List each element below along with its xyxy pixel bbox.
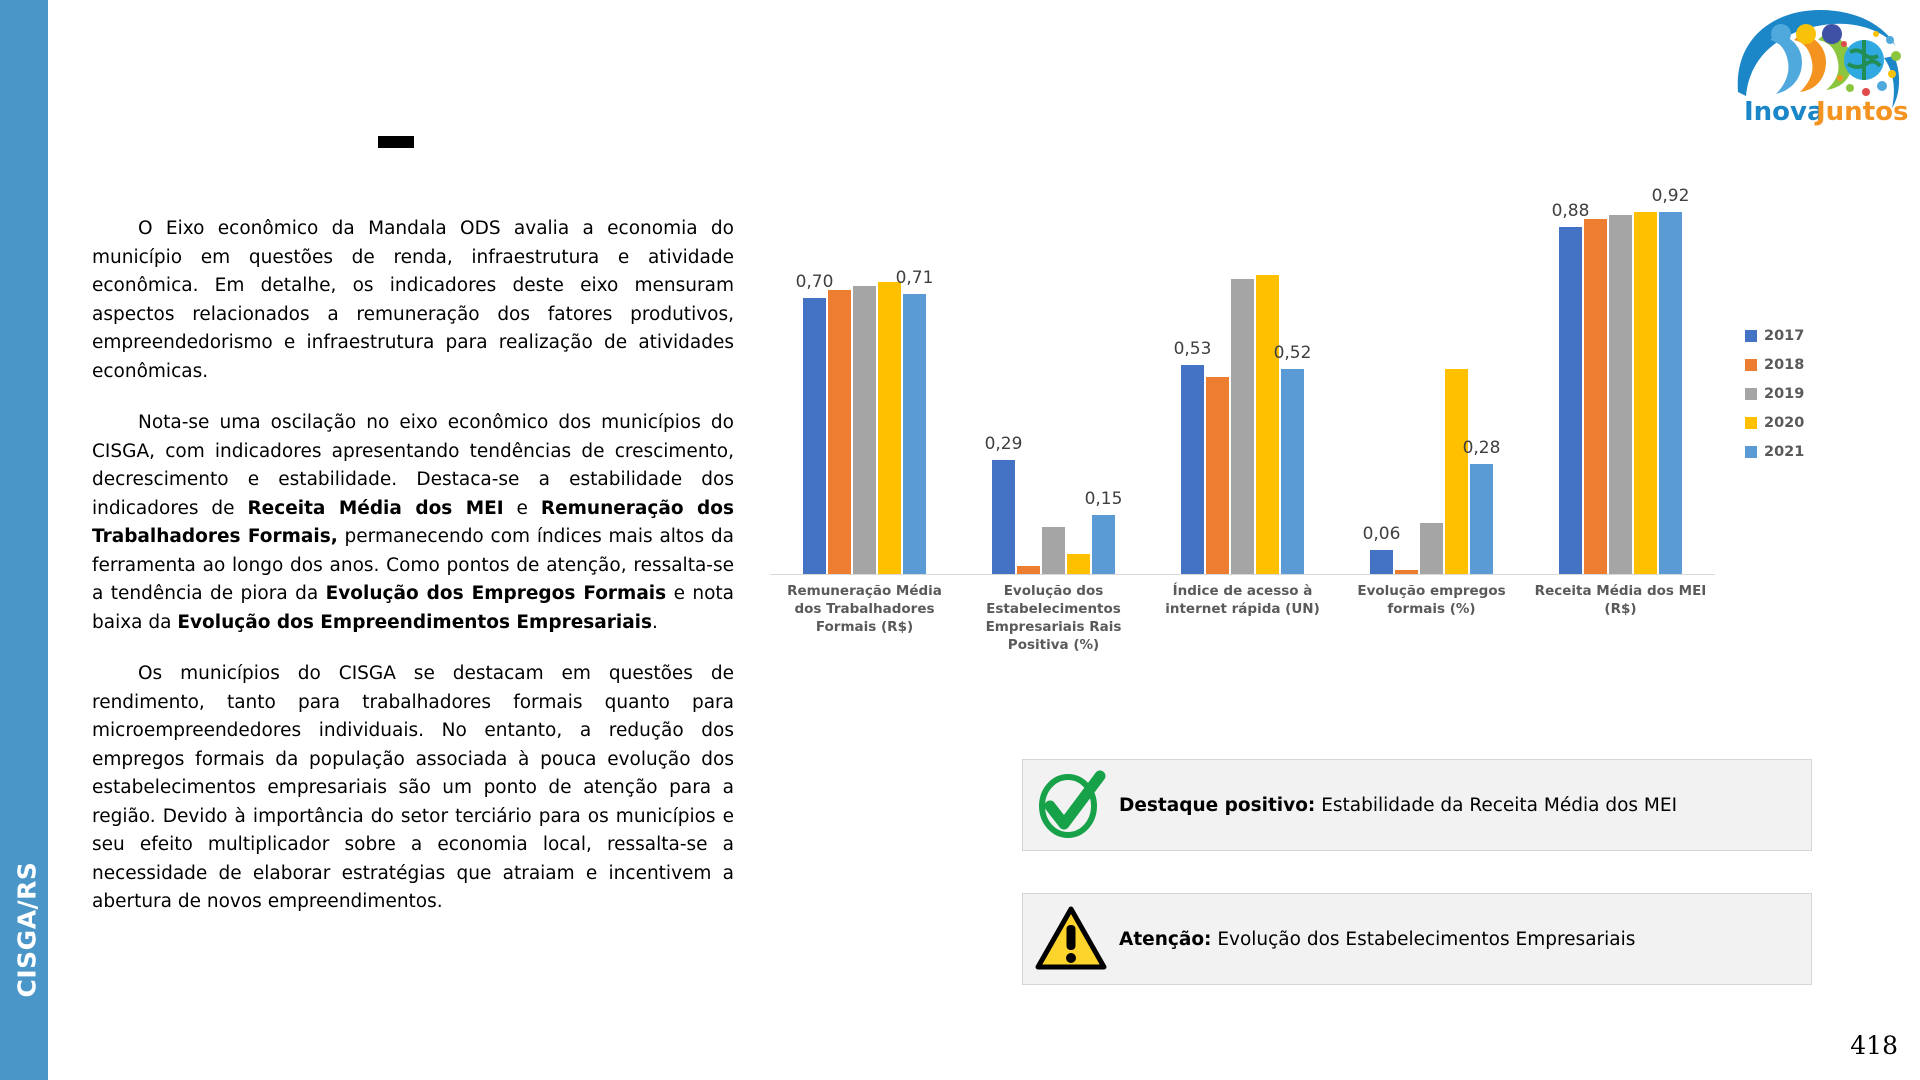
bar-slot: 0,70 (803, 180, 826, 574)
bar-slot (878, 180, 901, 574)
bar-value-label: 0,52 (1274, 343, 1312, 363)
callout-positive-label: Destaque positivo: (1119, 795, 1315, 816)
bar-2021 (1092, 515, 1115, 574)
svg-text:Inova: Inova (1744, 97, 1825, 126)
bar-2021 (1659, 212, 1682, 574)
bar-2017 (1559, 227, 1582, 574)
bar-2019 (1042, 527, 1065, 574)
bar-2020 (878, 282, 901, 574)
bar-group: 0,700,71 (770, 180, 959, 574)
category-label: Remuneração Média dos Trabalhadores Form… (770, 582, 959, 654)
body-text-column: O Eixo econômico da Mandala ODS avalia a… (92, 215, 734, 917)
bar-slot: 0,15 (1092, 180, 1115, 574)
bar-2020 (1256, 275, 1279, 574)
bar-2019 (1420, 523, 1443, 574)
bar-2018 (1206, 377, 1229, 574)
category-label: Índice de acesso à internet rápida (UN) (1148, 582, 1337, 654)
bar-2017 (992, 460, 1015, 574)
legend-item-2018[interactable]: 2018 (1745, 357, 1804, 373)
bar-slot: 0,53 (1181, 180, 1204, 574)
legend-item-2019[interactable]: 2019 (1745, 386, 1804, 402)
green-check-circle-icon (1023, 767, 1119, 843)
category-label: Evolução dos Estabelecimentos Empresaria… (959, 582, 1148, 654)
category-label: Evolução empregos formais (%) (1337, 582, 1526, 654)
legend-label: 2021 (1764, 444, 1804, 460)
bar-slot (1231, 180, 1254, 574)
bar-2019 (853, 286, 876, 574)
bar-2017 (803, 298, 826, 574)
bar-slot: 0,88 (1559, 180, 1582, 574)
bar-slot (1206, 180, 1229, 574)
economy-indicators-bar-chart: 0,700,710,290,150,530,520,060,280,880,92… (770, 150, 1910, 620)
svg-text:Juntos: Juntos (1814, 97, 1908, 126)
bar-slot: 0,52 (1281, 180, 1304, 574)
legend-label: 2017 (1764, 328, 1804, 344)
bar-2018 (828, 290, 851, 574)
bar-slot (828, 180, 851, 574)
bar-slot (1445, 180, 1468, 574)
bar-2020 (1445, 369, 1468, 574)
bar-2019 (1231, 279, 1254, 575)
chart-plot-area: 0,700,710,290,150,530,520,060,280,880,92 (770, 180, 1715, 575)
bar-value-label: 0,15 (1085, 489, 1123, 509)
bar-value-label: 0,92 (1652, 186, 1690, 206)
bar-2021 (1470, 464, 1493, 574)
bar-slot: 0,06 (1370, 180, 1393, 574)
yellow-warning-triangle-icon (1023, 901, 1119, 977)
bar-slot (1395, 180, 1418, 574)
category-axis-labels: Remuneração Média dos Trabalhadores Form… (770, 582, 1715, 654)
title-dash-rule (378, 136, 414, 148)
legend-item-2020[interactable]: 2020 (1745, 415, 1804, 431)
bar-2019 (1609, 215, 1632, 574)
bar-slot (1634, 180, 1657, 574)
bar-slot (1067, 180, 1090, 574)
bar-value-label: 0,28 (1463, 438, 1501, 458)
callout-attention: Atenção: Evolução dos Estabelecimentos E… (1022, 893, 1812, 985)
bar-2017 (1370, 550, 1393, 574)
bar-2018 (1017, 566, 1040, 574)
legend-label: 2018 (1764, 357, 1804, 373)
p2-part-f: . (652, 612, 658, 633)
bar-slot (1584, 180, 1607, 574)
p2-bold-3: Evolução dos Empregos Formais (326, 583, 667, 604)
bar-slot (1609, 180, 1632, 574)
left-sidebar: CISGA/RS (0, 0, 48, 1080)
callout-attention-text: Atenção: Evolução dos Estabelecimentos E… (1119, 926, 1811, 953)
legend-swatch-icon (1745, 330, 1757, 342)
callout-positive-text: Destaque positivo: Estabilidade da Recei… (1119, 792, 1811, 819)
sidebar-label: CISGA/RS (13, 840, 42, 1020)
legend-swatch-icon (1745, 388, 1757, 400)
bar-group: 0,530,52 (1148, 180, 1337, 574)
bar-groups: 0,700,710,290,150,530,520,060,280,880,92 (770, 180, 1715, 574)
category-label: Receita Média dos MEI (R$) (1526, 582, 1715, 654)
inovajuntos-logo: Inova Juntos (1724, 4, 1914, 126)
bar-slot: 0,28 (1470, 180, 1493, 574)
p2-bold-4: Evolução dos Empreendimentos Empresariai… (177, 612, 652, 633)
bar-slot (1256, 180, 1279, 574)
legend-swatch-icon (1745, 359, 1757, 371)
callout-attention-body: Evolução dos Estabelecimentos Empresaria… (1211, 929, 1635, 950)
legend-label: 2019 (1764, 386, 1804, 402)
bar-2020 (1634, 212, 1657, 574)
p2-bold-1: Receita Média dos MEI (247, 498, 503, 519)
legend-swatch-icon (1745, 417, 1757, 429)
bar-2017 (1181, 365, 1204, 574)
callout-attention-label: Atenção: (1119, 929, 1211, 950)
callout-positive-highlight: Destaque positivo: Estabilidade da Recei… (1022, 759, 1812, 851)
p2-part-c: e (504, 498, 541, 519)
paragraph-1: O Eixo econômico da Mandala ODS avalia a… (92, 215, 734, 386)
bar-slot: 0,71 (903, 180, 926, 574)
bar-group: 0,880,92 (1526, 180, 1715, 574)
bar-slot (1042, 180, 1065, 574)
callout-positive-body: Estabilidade da Receita Média dos MEI (1315, 795, 1677, 816)
legend-swatch-icon (1745, 446, 1757, 458)
legend-item-2017[interactable]: 2017 (1745, 328, 1804, 344)
legend-item-2021[interactable]: 2021 (1745, 444, 1804, 460)
chart-legend: 20172018201920202021 (1745, 328, 1804, 460)
bar-group: 0,060,28 (1337, 180, 1526, 574)
bar-slot (1420, 180, 1443, 574)
bar-slot: 0,29 (992, 180, 1015, 574)
legend-label: 2020 (1764, 415, 1804, 431)
bar-2018 (1584, 219, 1607, 574)
page-number: 418 (1850, 1031, 1898, 1060)
bar-value-label: 0,71 (896, 268, 934, 288)
bar-slot (853, 180, 876, 574)
bar-2021 (903, 294, 926, 574)
bar-2020 (1067, 554, 1090, 574)
x-axis-line (770, 574, 1715, 575)
bar-2021 (1281, 369, 1304, 574)
paragraph-2: Nota-se uma oscilação no eixo econômico … (92, 409, 734, 637)
bar-slot: 0,92 (1659, 180, 1682, 574)
bar-group: 0,290,15 (959, 180, 1148, 574)
bar-slot (1017, 180, 1040, 574)
paragraph-3: Os municípios do CISGA se destacam em qu… (92, 660, 734, 917)
